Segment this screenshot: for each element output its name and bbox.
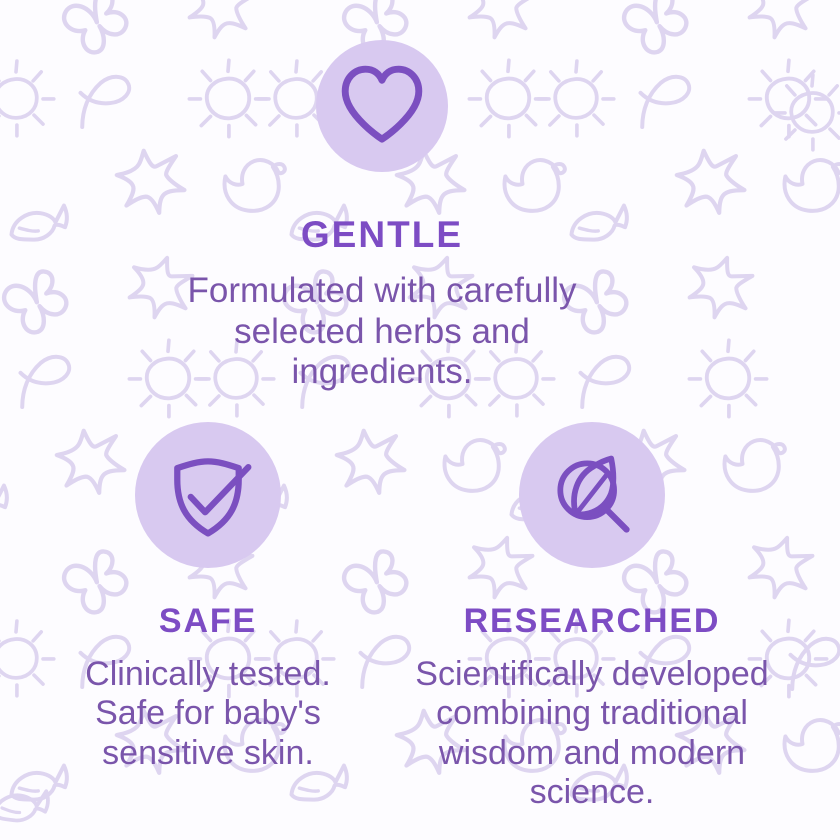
gentle-desc-line-1: Formulated with carefully [172,271,592,312]
feature-researched: RESEARCHED Scientifically developed comb… [392,422,792,813]
product-benefits-infographic: GENTLE Formulated with carefully selecte… [0,0,840,840]
researched-desc-line-3: wisdom and modern science. [397,734,787,813]
gentle-desc-line-3: ingredients. [172,352,592,393]
features-container: GENTLE Formulated with carefully selecte… [0,0,840,840]
researched-title: RESEARCHED [392,604,792,638]
gentle-icon-circle [316,40,448,172]
feature-gentle: GENTLE Formulated with carefully selecte… [120,40,644,393]
gentle-title: GENTLE [120,216,644,253]
leaf-magnifier-icon [544,447,640,543]
researched-icon-circle [519,422,665,568]
safe-desc-line-1: Clinically tested. [58,655,358,694]
safe-desc-line-3: sensitive skin. [58,734,358,773]
gentle-desc-line-2: selected herbs and [172,312,592,353]
shield-check-icon [160,447,256,543]
researched-desc-line-1: Scientifically developed [397,655,787,694]
safe-title: SAFE [40,604,376,638]
heart-icon [336,60,428,152]
researched-description: Scientifically developed combining tradi… [397,655,787,813]
safe-icon-circle [135,422,281,568]
researched-desc-line-2: combining traditional [397,694,787,733]
safe-description: Clinically tested. Safe for baby's sensi… [58,655,358,773]
gentle-description: Formulated with carefully selected herbs… [172,271,592,393]
safe-desc-line-2: Safe for baby's [58,694,358,733]
feature-safe: SAFE Clinically tested. Safe for baby's … [40,422,376,773]
